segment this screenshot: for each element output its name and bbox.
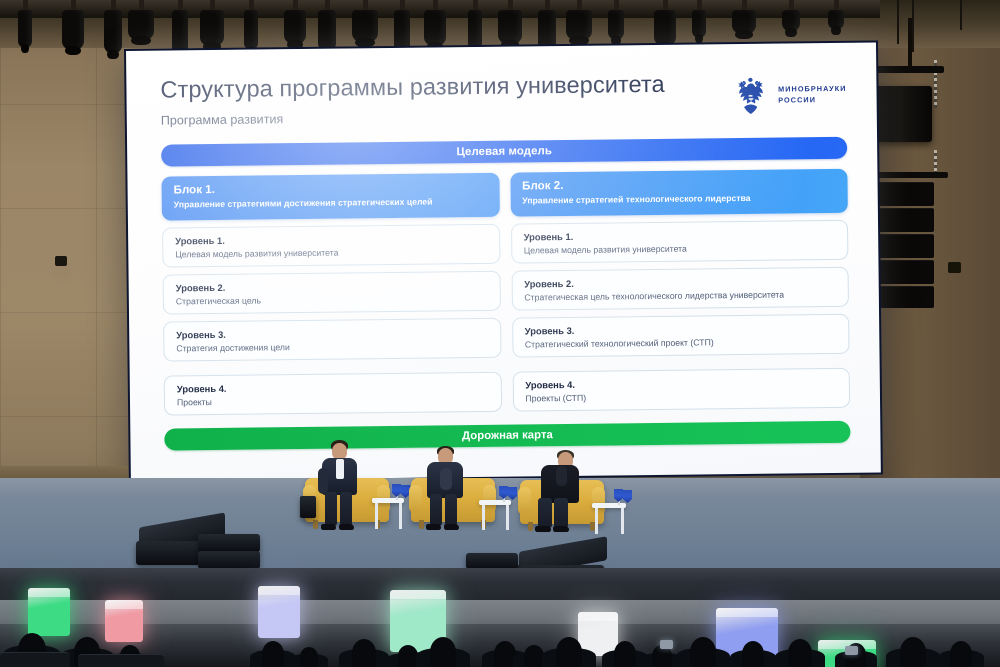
level-card: Уровень 3. Стратегический технологически… (512, 314, 850, 358)
arm (318, 468, 328, 494)
side-table-leg (595, 508, 598, 534)
lamp-stem (111, 0, 116, 10)
armchair-arm (409, 485, 422, 513)
level-description: Стратегия достижения цели (176, 339, 488, 353)
lamp-stem (663, 0, 668, 10)
lamp-stem (249, 0, 254, 10)
armchair-arm (592, 487, 605, 515)
block-column-2: Блок 2. Управление стратегией технологич… (510, 169, 850, 412)
level-title: Уровень 1. (524, 228, 836, 243)
level-title: Уровень 3. (525, 322, 837, 337)
level-card: Уровень 4. Проекты (СТП) (512, 368, 850, 412)
stage-light-icon (128, 10, 154, 40)
presentation-slide: Структура программы развития университет… (126, 42, 881, 480)
level-card: Уровень 2. Стратегическая цель (163, 270, 501, 314)
level-description: Проекты (177, 393, 489, 407)
lamp-stem (545, 0, 550, 10)
block-column-1: Блок 1. Управление стратегиями достижени… (161, 172, 501, 415)
stage-light-icon (828, 10, 844, 30)
lamp-stem (473, 0, 478, 10)
leg (538, 498, 552, 528)
armchair-leg (528, 522, 533, 531)
block-1-title: Блок 1. (174, 180, 488, 198)
arm-raised (440, 468, 452, 490)
block-1-header: Блок 1. Управление стратегиями достижени… (161, 172, 499, 220)
lamp-stem (614, 0, 619, 10)
arm-raised (556, 466, 567, 486)
wall-fixture-icon (55, 256, 67, 266)
audience-head (788, 639, 812, 667)
audience-head (900, 637, 926, 667)
lamp-stem (71, 0, 76, 10)
stage-light-icon (244, 10, 258, 50)
wall-fixture-right-icon (948, 262, 961, 273)
stage-light-icon (104, 10, 122, 54)
level-title: Уровень 4. (177, 380, 489, 395)
lamp-stem (23, 0, 28, 10)
level-card: Уровень 1. Целевая модель развития униве… (511, 220, 849, 264)
target-model-bar: Целевая модель (161, 137, 847, 167)
stage-light-icon (732, 10, 756, 34)
auditorium-seat-back (0, 652, 70, 667)
shoe (535, 526, 551, 532)
stage-light-icon (692, 10, 706, 38)
blocks-container: Блок 1. Управление стратегиями достижени… (161, 169, 850, 416)
stage-light-icon (200, 10, 224, 46)
glow-cube-pink (105, 600, 143, 642)
level-card: Уровень 3. Стратегия достижения цели (163, 317, 501, 361)
lamp-stem (834, 0, 839, 10)
audience-head (742, 641, 764, 667)
lamp-stem (293, 0, 298, 10)
slide-subtitle: Программа развития (161, 108, 665, 128)
block-1-description: Управление стратегиями достижения страте… (174, 196, 488, 211)
lamp-stem (325, 0, 330, 10)
lamp-stem (178, 0, 183, 10)
glow-cube-top (105, 600, 143, 609)
level-card: Уровень 4. Проекты (164, 371, 502, 415)
stage-light-icon (498, 10, 522, 44)
side-table-leg (482, 505, 485, 530)
glow-cube-top (28, 588, 70, 597)
audience-phone (845, 646, 858, 655)
level-description: Целевая модель развития университета (175, 245, 487, 259)
stage-light-icon (284, 10, 306, 44)
level-description: Целевая модель развития университета (524, 241, 836, 255)
slide-heading-group: Структура программы развития университет… (160, 71, 665, 127)
level-card: Уровень 1. Целевая модель развития униве… (162, 223, 500, 267)
glow-cube-top (716, 608, 778, 617)
projection-screen: Структура программы развития университет… (124, 40, 883, 483)
shoe (553, 526, 569, 532)
leg (445, 494, 457, 526)
side-table-leg (506, 505, 509, 530)
glow-cube-top (578, 612, 618, 621)
block-2-title: Блок 2. (522, 176, 836, 194)
slide-title: Структура программы развития университет… (160, 71, 665, 104)
level-description: Стратегическая цель (176, 292, 488, 306)
audience-head (300, 647, 318, 667)
side-table-leg (399, 503, 402, 529)
stage-light-icon (18, 10, 32, 48)
stage-light-icon (782, 10, 800, 32)
leg (340, 492, 352, 526)
level-card: Уровень 2. Стратегическая цель технологи… (511, 267, 849, 311)
audience-head (950, 641, 972, 667)
audience-head (690, 637, 716, 667)
shoe (426, 524, 441, 530)
audience-head (614, 641, 636, 667)
audience-head (262, 641, 284, 667)
armchair-leg (313, 520, 318, 529)
audience-head (556, 637, 582, 667)
side-table-leg (375, 503, 378, 529)
lamp-stem (210, 0, 215, 10)
ministry-logo-text: МИНОБРНАУКИ РОССИИ (778, 83, 847, 106)
shoe (321, 524, 336, 530)
glow-cube-lavender (258, 586, 300, 638)
audience-head (430, 637, 456, 667)
shoe (339, 524, 354, 530)
armchair-arm (518, 487, 531, 515)
lamp-stem (433, 0, 438, 10)
lamp-stem (697, 0, 702, 10)
stage-light-icon (654, 10, 676, 46)
level-description: Стратегическая цель технологического лид… (524, 288, 836, 302)
block-2-header: Блок 2. Управление стратегией технологич… (510, 169, 848, 217)
shirt (336, 459, 344, 479)
double-headed-eagle-icon (731, 74, 769, 116)
side-table-leg (621, 508, 624, 534)
armchair-leg (419, 520, 424, 529)
audience-head (352, 639, 376, 667)
lamp-stem (508, 0, 513, 10)
level-description: Проекты (СТП) (525, 389, 837, 403)
lamp-stem (139, 0, 144, 10)
stage-light-icon (62, 10, 84, 50)
equipment-case (300, 496, 316, 518)
stage-light-icon (424, 10, 446, 46)
level-title: Уровень 1. (175, 232, 487, 247)
level-description: Стратегический технологический проект (С… (525, 335, 837, 349)
audience-phone (660, 640, 673, 649)
lamp-stem (363, 0, 368, 10)
leg (430, 494, 442, 526)
lamp-stem (577, 0, 582, 10)
logo-line-2: РОССИИ (778, 94, 847, 106)
glow-cube-top (258, 586, 300, 595)
level-title: Уровень 2. (524, 275, 836, 290)
lamp-stem (789, 0, 794, 10)
lamp-stem (742, 0, 747, 10)
logo-line-1: МИНОБРНАУКИ (778, 83, 847, 95)
lamp-stem (400, 0, 405, 10)
ministry-logo: МИНОБРНАУКИ РОССИИ (731, 69, 847, 116)
slide-header: Структура программы развития университет… (160, 69, 847, 127)
glow-cube-top (390, 590, 446, 599)
auditorium-seat-back (78, 654, 164, 667)
level-title: Уровень 2. (176, 279, 488, 294)
roadmap-bar: Дорожная карта (164, 421, 850, 451)
glow-cube-green (28, 588, 70, 636)
leg (554, 498, 568, 528)
level-title: Уровень 3. (176, 326, 488, 341)
block-2-description: Управление стратегией технологического л… (522, 192, 836, 207)
stage-light-icon (352, 10, 378, 42)
stage-front-edge (0, 568, 1000, 604)
level-title: Уровень 4. (525, 376, 837, 391)
stage-light-icon (608, 10, 624, 40)
conference-hall-scene: Структура программы развития университет… (0, 0, 1000, 667)
shoe (444, 524, 459, 530)
stage-light-icon (566, 10, 592, 40)
leg (325, 492, 337, 526)
